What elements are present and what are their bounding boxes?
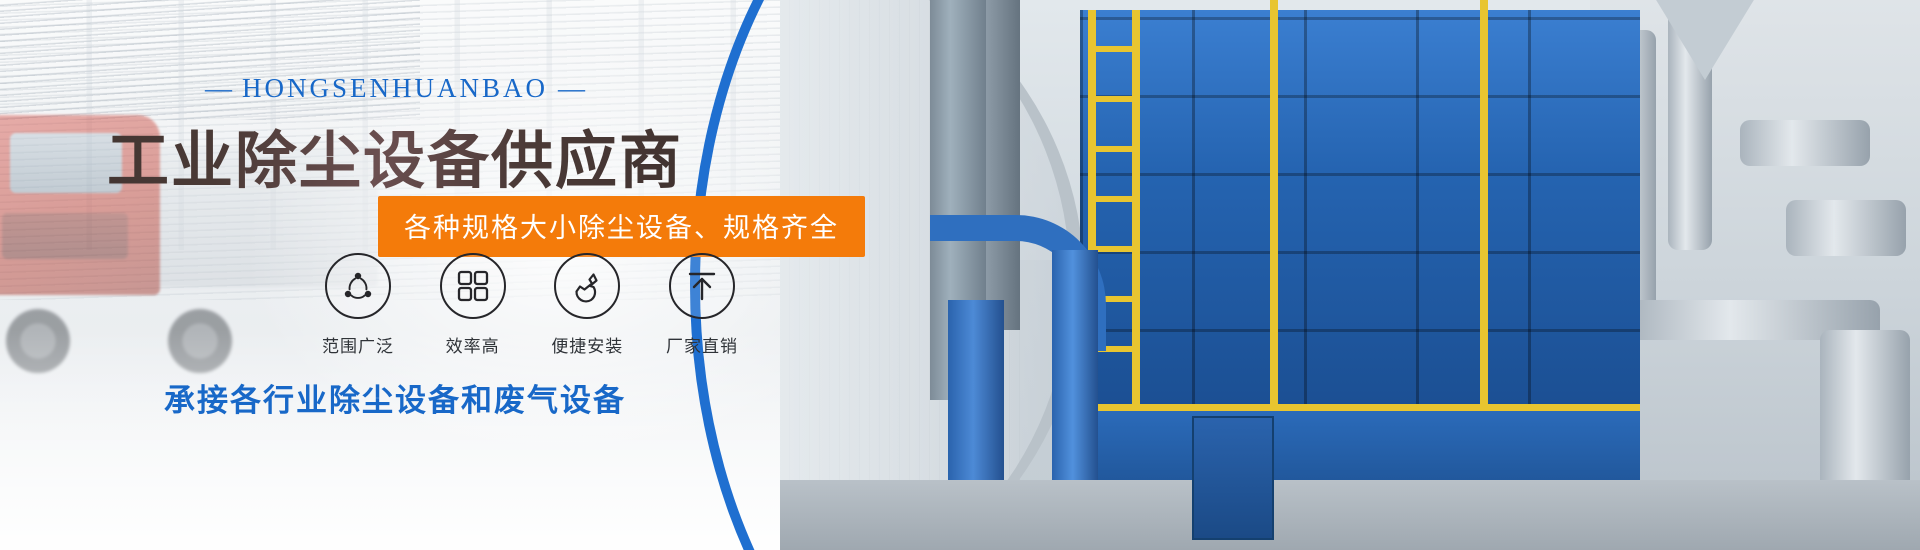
feature-label: 便捷安装 [539, 332, 635, 357]
feature-item-installation[interactable]: 便捷安装 [539, 253, 635, 357]
blue-access-door [1192, 416, 1274, 540]
brand-eyebrow: —HONGSENHUANBAO— [0, 73, 790, 104]
ladder-rung [1088, 96, 1132, 102]
banner-content: —HONGSENHUANBAO— 工业除尘设备供应商 各种规格大小除尘设备、规格… [0, 0, 830, 550]
ladder-left-rail [1132, 10, 1140, 410]
page-title: 工业除尘设备供应商 [0, 110, 790, 200]
feature-label: 厂家直销 [654, 332, 750, 357]
feature-list: 范围广泛 效率高 [310, 253, 750, 357]
wrench-icon [554, 253, 620, 319]
feature-item-efficiency[interactable]: 效率高 [425, 253, 521, 357]
feature-label: 范围广泛 [310, 332, 406, 357]
ladder-mid [1270, 0, 1278, 410]
network-nodes-icon [325, 253, 391, 319]
eyebrow-text: HONGSENHUANBAO [242, 73, 548, 103]
eyebrow-dash-left: — [195, 73, 242, 103]
cyclone-cone [1650, 0, 1760, 80]
baghouse-modules [1080, 10, 1640, 410]
horizontal-duct [1740, 120, 1870, 166]
dust-collector-plant-photo [780, 0, 1920, 550]
bottom-tagline: 承接各行业除尘设备和废气设备 [0, 375, 790, 420]
grid-squares-icon [440, 253, 506, 319]
ladder-rung [1088, 196, 1132, 202]
feature-label: 效率高 [425, 332, 521, 357]
horizontal-duct-2 [1786, 200, 1906, 256]
ladder-rung [1088, 146, 1132, 152]
ladder-right [1480, 0, 1488, 410]
orange-subtitle-bar: 各种规格大小除尘设备、规格齐全 [378, 196, 865, 257]
platform-railing [1080, 404, 1640, 411]
feature-item-range[interactable]: 范围广泛 [310, 253, 406, 357]
orange-subtitle-text: 各种规格大小除尘设备、规格齐全 [404, 213, 839, 244]
arrow-up-bar-icon [669, 253, 735, 319]
ladder-rung [1088, 46, 1132, 52]
ground [780, 480, 1920, 550]
eyebrow-dash-right: — [548, 73, 595, 103]
feature-item-factory-direct[interactable]: 厂家直销 [654, 253, 750, 357]
hero-banner: —HONGSENHUANBAO— 工业除尘设备供应商 各种规格大小除尘设备、规格… [0, 0, 1920, 550]
